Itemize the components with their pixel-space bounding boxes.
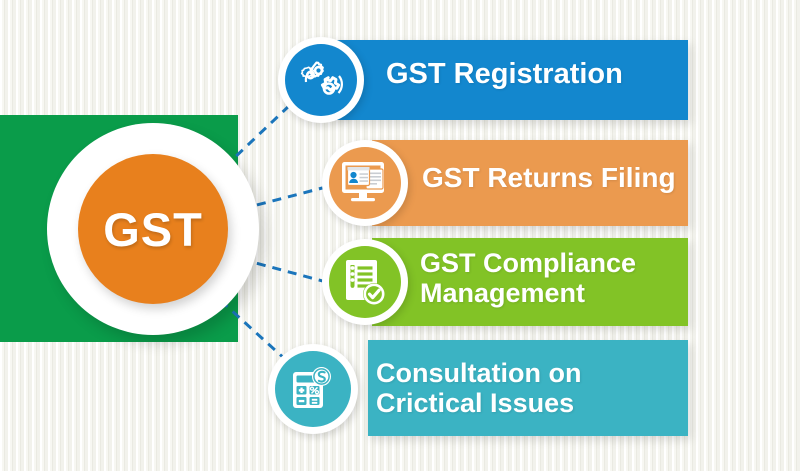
gst-hub: GST xyxy=(47,123,259,335)
service-row-returns-filing[interactable]: GST Returns Filing xyxy=(322,140,688,226)
service-row-registration[interactable]: GST Registration xyxy=(278,40,688,120)
hub-orange-circle: GST xyxy=(78,154,228,304)
infographic-canvas: GST GST Registration xyxy=(0,0,800,471)
service-badge-registration xyxy=(278,37,364,123)
service-badge-compliance xyxy=(322,239,408,325)
service-label-registration: GST Registration xyxy=(386,58,623,90)
service-label-compliance: GST Compliance Management xyxy=(420,248,636,308)
service-badge-consultation xyxy=(268,344,358,434)
service-label-consultation-line2: Crictical Issues xyxy=(376,388,581,418)
service-label-compliance-line1: GST Compliance xyxy=(420,248,636,278)
service-row-consultation[interactable]: Consultation on Crictical Issues xyxy=(268,340,688,436)
service-label-consultation-line1: Consultation on xyxy=(376,358,581,388)
calculator-coin-icon xyxy=(275,351,351,427)
monitor-profile-icon xyxy=(329,147,401,219)
service-label-returns-filing: GST Returns Filing xyxy=(422,162,676,193)
checklist-document-icon xyxy=(329,246,401,318)
service-row-compliance[interactable]: GST Compliance Management xyxy=(322,238,688,326)
hub-label: GST xyxy=(103,206,203,253)
service-label-consultation: Consultation on Crictical Issues xyxy=(376,358,581,418)
service-label-compliance-line2: Management xyxy=(420,278,636,308)
service-badge-returns-filing xyxy=(322,140,408,226)
gears-icon xyxy=(285,44,357,116)
